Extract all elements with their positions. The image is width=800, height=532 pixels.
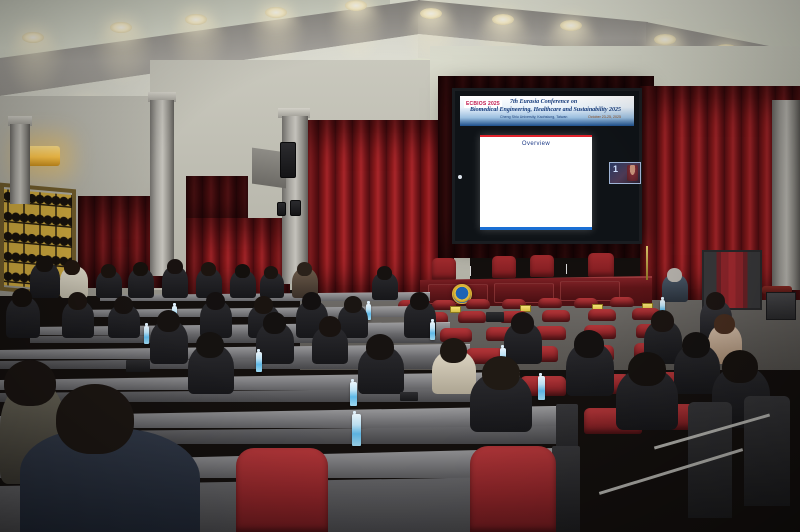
- seat: [538, 298, 562, 308]
- downlight: [345, 0, 367, 11]
- speaker-video-thumbnail: 1: [609, 162, 641, 184]
- attendee-head: [64, 260, 80, 275]
- attendee-head: [133, 262, 148, 276]
- conference-date: October 23-25, 2025: [588, 115, 621, 119]
- attendee-head: [12, 288, 32, 307]
- water-bottle: [256, 352, 262, 372]
- attendee-head: [4, 360, 56, 406]
- lectern: [766, 292, 796, 320]
- seat: [470, 446, 556, 532]
- slide-content-page: Overview: [480, 135, 592, 230]
- attendee-head: [201, 262, 216, 276]
- conference-title-line2: Biomedical Engineering, Healthcare and S…: [470, 107, 621, 113]
- auditorium-photo: ECBIOS 2025 7th Eurasia Conference on Bi…: [0, 0, 800, 532]
- flag-pole: [646, 246, 648, 280]
- column-left: [10, 124, 30, 204]
- downlight: [185, 14, 207, 25]
- attendee-head: [706, 292, 725, 310]
- attendee-head: [482, 356, 520, 390]
- attendee-head: [297, 262, 312, 276]
- attendee-head: [167, 259, 183, 274]
- smartphone: [400, 392, 418, 401]
- water-bottle: [350, 382, 357, 406]
- water-bottle: [538, 376, 545, 400]
- laptop: [486, 312, 504, 322]
- light-wash: [5, 34, 65, 94]
- seat: [542, 310, 570, 322]
- attendee-head: [196, 332, 224, 358]
- wall-speaker-small-lower: [277, 202, 286, 216]
- attendee-head: [440, 338, 467, 363]
- downlight: [654, 34, 676, 45]
- attendee-head: [302, 292, 321, 310]
- downlight: [492, 14, 514, 25]
- seat: [588, 309, 616, 321]
- attendee-head: [628, 352, 666, 386]
- wall-sconce-light: [26, 146, 60, 166]
- attendee-head: [68, 292, 87, 310]
- attendee-head: [206, 292, 225, 310]
- seat: [610, 297, 634, 307]
- attendee-head: [714, 314, 735, 334]
- downlight: [110, 22, 132, 33]
- attendee-head: [114, 296, 133, 314]
- attendee-head: [254, 296, 273, 314]
- water-bottle: [352, 414, 361, 446]
- column-mid: [150, 100, 174, 276]
- conference-venue: Cheng Shiu University, Kaohsiung, Taiwan: [500, 115, 567, 119]
- table-microphone: [566, 264, 567, 274]
- water-bottle: [144, 326, 149, 344]
- slide-title-banner: ECBIOS 2025 7th Eurasia Conference on Bi…: [460, 96, 634, 126]
- attendee-head: [667, 268, 682, 282]
- stage-chair: [492, 256, 516, 278]
- wall-speaker-small: [290, 200, 301, 216]
- video-thumbnail-figure: [627, 165, 638, 181]
- attendee-head: [366, 334, 394, 360]
- water-bottle: [430, 322, 435, 340]
- stage-curtain-upper-left: [186, 176, 248, 220]
- downlight: [22, 32, 44, 43]
- attendee-head: [263, 312, 286, 334]
- attendee-head: [410, 292, 429, 310]
- seat: [466, 299, 490, 309]
- downlight: [420, 8, 442, 19]
- attendee-head: [722, 350, 758, 383]
- stage-chair: [530, 255, 554, 277]
- slide-heading: Overview: [480, 141, 592, 147]
- light-wash: [93, 24, 153, 84]
- attendee-head: [56, 384, 134, 454]
- projection-screen: ECBIOS 2025 7th Eurasia Conference on Bi…: [452, 88, 642, 244]
- downlight: [560, 20, 582, 31]
- attendee-head: [651, 310, 674, 332]
- stage-chair: [588, 253, 614, 277]
- attendee-head: [682, 332, 710, 358]
- wall-speaker: [280, 142, 296, 178]
- attendee-head: [319, 316, 341, 337]
- attendee-head: [344, 296, 362, 313]
- aisle-chair: [744, 396, 790, 506]
- stage-chair: [432, 258, 456, 280]
- attendee-head: [36, 256, 53, 272]
- attendee-head: [264, 266, 278, 279]
- attendee-head: [511, 312, 534, 334]
- screen-indicator-dot: [458, 175, 462, 179]
- seat: [236, 448, 328, 532]
- video-thumbnail-label: 1: [613, 165, 618, 174]
- laptop: [126, 360, 150, 372]
- seat: [458, 311, 486, 323]
- table-microphone: [470, 266, 471, 276]
- attendee-head: [574, 330, 604, 358]
- column-far-right: [772, 100, 800, 290]
- desk-row-end: [552, 446, 580, 532]
- downlight: [265, 7, 287, 18]
- conference-title-line1: 7th Eurasia Conference on: [510, 99, 577, 105]
- attendee-head: [235, 264, 250, 278]
- attendee-head: [377, 266, 392, 280]
- attendee-head: [157, 310, 180, 332]
- attendee-head: [101, 264, 116, 278]
